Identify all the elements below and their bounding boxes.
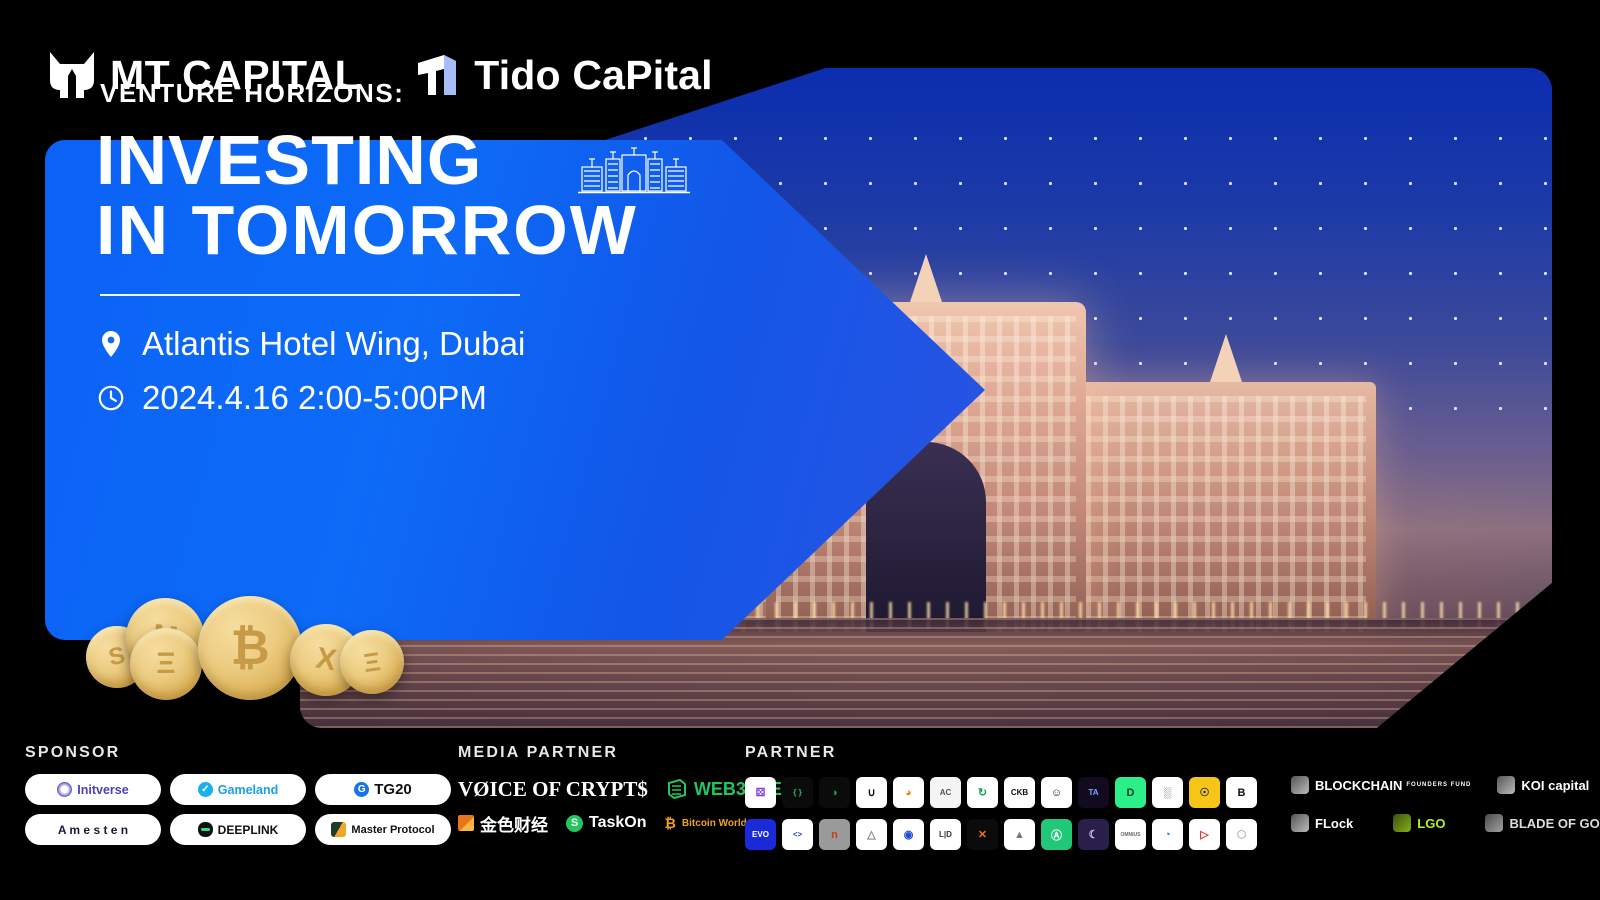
partner-tile-14[interactable]: B bbox=[1226, 777, 1257, 808]
event-location-text: Atlantis Hotel Wing, Dubai bbox=[142, 325, 525, 363]
tido-logo-mark-icon bbox=[414, 51, 460, 99]
partner-tile-9[interactable]: ☺ bbox=[1041, 777, 1072, 808]
lgo-logo[interactable]: LGO bbox=[1393, 814, 1445, 832]
brand-mt-capital: MT CAPITAL bbox=[48, 50, 360, 100]
partner-tile-5[interactable]: ◕ bbox=[893, 777, 924, 808]
media-partner-row-1: VØICE OF CRYPT$ WEB3EVENT bbox=[458, 772, 728, 806]
blockchain-founders-fund-icon bbox=[1291, 776, 1309, 794]
partner-sublabel: FOUNDERS FUND bbox=[1406, 782, 1471, 788]
title-divider bbox=[100, 294, 520, 296]
taskon-icon: S bbox=[566, 815, 583, 832]
deeplink-icon bbox=[198, 822, 213, 837]
bitcoin-world-icon: ₿ bbox=[665, 815, 676, 831]
footer: SPONSOR Initverse ✓ Gameland G TG20 A m … bbox=[0, 740, 1600, 900]
media-label: TaskOn bbox=[589, 814, 647, 832]
sponsor-pill-grid: Initverse ✓ Gameland G TG20 A m e s t e … bbox=[25, 774, 445, 845]
sponsor-label: DEEPLINK bbox=[218, 823, 279, 837]
sponsor-label: Initverse bbox=[77, 783, 128, 797]
lgo-icon bbox=[1393, 814, 1411, 832]
sponsor-pill-master-protocol[interactable]: Master Protocol bbox=[315, 814, 451, 845]
tido-capital-wordmark: Tido CaPital bbox=[474, 55, 713, 96]
jinse-finance-icon bbox=[458, 815, 474, 831]
sponsor-pill-deeplink[interactable]: DEEPLINK bbox=[170, 814, 306, 845]
sponsor-heading: SPONSOR bbox=[25, 744, 445, 762]
partner-tile-wrap: ⚄{ }◑∪◕AC↻CKB☺TAD░☉B EVO<>n△◉L|D✕▲Ⓐ☾OMNI… bbox=[745, 766, 1257, 850]
partner-label: LGO bbox=[1417, 816, 1445, 831]
partner-tile-13[interactable]: ☉ bbox=[1189, 777, 1220, 808]
sponsor-label: A m e s t e n bbox=[58, 823, 128, 837]
master-protocol-icon bbox=[331, 822, 346, 837]
partner-label: BLOCKCHAIN bbox=[1315, 778, 1402, 793]
hero-title: INVESTING IN TOMORROW bbox=[96, 125, 638, 265]
atlantis-hotel-outline-icon bbox=[578, 145, 690, 197]
blade-of-god-icon bbox=[1485, 814, 1503, 832]
partner-tile-24[interactable]: ☾ bbox=[1078, 819, 1109, 850]
partner-tile-18[interactable]: △ bbox=[856, 819, 887, 850]
partner-label: BLADE OF GOD bbox=[1509, 816, 1600, 831]
partner-tile-12[interactable]: ░ bbox=[1152, 777, 1183, 808]
crypto-coin-cluster: S M Ξ ₿ X Ξ bbox=[78, 588, 438, 698]
partner-tile-4[interactable]: ∪ bbox=[856, 777, 887, 808]
location-pin-icon bbox=[98, 329, 124, 359]
sponsor-label: Gameland bbox=[218, 783, 278, 797]
partner-tile-23[interactable]: Ⓐ bbox=[1041, 819, 1072, 850]
partner-tile-8[interactable]: CKB bbox=[1004, 777, 1035, 808]
coin-ethereum: Ξ bbox=[130, 628, 202, 700]
partner-tile-7[interactable]: ↻ bbox=[967, 777, 998, 808]
partner-tile-6[interactable]: AC bbox=[930, 777, 961, 808]
media-partner-list: VØICE OF CRYPT$ WEB3EVENT 金色财经 S TaskOn bbox=[458, 772, 728, 840]
partner-tile-row-2: EVO<>n△◉L|D✕▲Ⓐ☾OMNIUS◔▷⬡ bbox=[745, 819, 1257, 850]
media-logo-voice-of-crypto[interactable]: VØICE OF CRYPT$ bbox=[458, 779, 648, 800]
partner-tile-20[interactable]: L|D bbox=[930, 819, 961, 850]
partner-tile-row-1: ⚄{ }◑∪◕AC↻CKB☺TAD░☉B bbox=[745, 777, 1257, 808]
media-partner-row-2: 金色财经 S TaskOn ₿ Bitcoin World bbox=[458, 806, 728, 840]
hero-title-line2: IN TOMORROW bbox=[96, 195, 638, 265]
web3event-icon bbox=[666, 778, 688, 800]
partner-heading: PARTNER bbox=[745, 744, 1585, 762]
partner-tile-27[interactable]: ▷ bbox=[1189, 819, 1220, 850]
koi-capital-logo[interactable]: KOI capital bbox=[1497, 776, 1589, 794]
logo-bar: MT CAPITAL Tido CaPital bbox=[48, 50, 713, 100]
sponsor-label: Master Protocol bbox=[351, 824, 434, 836]
gameland-check-icon: ✓ bbox=[198, 782, 213, 797]
partner-named-row-2: FLockLGOBLADE OF GOD bbox=[1291, 806, 1600, 840]
media-label: Bitcoin World bbox=[682, 818, 747, 829]
sponsor-pill-initverse[interactable]: Initverse bbox=[25, 774, 161, 805]
partner-tile-21[interactable]: ✕ bbox=[967, 819, 998, 850]
blade-of-god-logo[interactable]: BLADE OF GOD bbox=[1485, 814, 1600, 832]
mt-logo-mark-icon bbox=[48, 50, 96, 100]
partner-label: FLock bbox=[1315, 816, 1353, 831]
partner-tile-3[interactable]: ◑ bbox=[819, 777, 850, 808]
sponsor-pill-tg20[interactable]: G TG20 bbox=[315, 774, 451, 805]
partner-tile-26[interactable]: ◔ bbox=[1152, 819, 1183, 850]
event-banner: MT CAPITAL Tido CaPital VENTURE HORIZON bbox=[0, 0, 1600, 900]
flock-icon bbox=[1291, 814, 1309, 832]
media-label: VØICE OF CRYPT$ bbox=[458, 779, 648, 800]
partner-named-row-1: BLOCKCHAINFOUNDERS FUNDKOI capitalBISON … bbox=[1291, 768, 1600, 802]
partner-label: KOI capital bbox=[1521, 778, 1589, 793]
media-partner-heading: MEDIA PARTNER bbox=[458, 744, 728, 762]
media-logo-bitcoin-world[interactable]: ₿ Bitcoin World bbox=[665, 815, 747, 831]
partner-section: PARTNER ⚄{ }◑∪◕AC↻CKB☺TAD░☉B EVO<>n△◉L|D… bbox=[745, 744, 1585, 762]
mt-capital-wordmark: MT CAPITAL bbox=[110, 55, 360, 96]
event-datetime-row: 2024.4.16 2:00-5:00PM bbox=[98, 379, 525, 417]
sponsor-pill-amesten[interactable]: A m e s t e n bbox=[25, 814, 161, 845]
partner-tile-11[interactable]: D bbox=[1115, 777, 1146, 808]
partner-tile-28[interactable]: ⬡ bbox=[1226, 819, 1257, 850]
sponsor-section: SPONSOR Initverse ✓ Gameland G TG20 A m … bbox=[25, 744, 445, 845]
media-logo-taskon[interactable]: S TaskOn bbox=[566, 814, 647, 832]
clock-icon bbox=[98, 383, 124, 413]
tg20-icon: G bbox=[354, 782, 369, 797]
media-label: 金色财经 bbox=[480, 811, 548, 836]
media-logo-jinse-finance[interactable]: 金色财经 bbox=[458, 811, 548, 836]
partner-tile-19[interactable]: ◉ bbox=[893, 819, 924, 850]
koi-capital-icon bbox=[1497, 776, 1515, 794]
partner-tile-10[interactable]: TA bbox=[1078, 777, 1109, 808]
brand-tido-capital: Tido CaPital bbox=[414, 51, 713, 99]
partner-tile-25[interactable]: OMNIUS bbox=[1115, 819, 1146, 850]
partner-tile-2[interactable]: { } bbox=[782, 777, 813, 808]
coin-bitcoin: ₿ bbox=[198, 596, 302, 700]
partner-tile-17[interactable]: n bbox=[819, 819, 850, 850]
flock-logo[interactable]: FLock bbox=[1291, 814, 1353, 832]
partner-tile-22[interactable]: ▲ bbox=[1004, 819, 1035, 850]
event-datetime-text: 2024.4.16 2:00-5:00PM bbox=[142, 379, 487, 417]
hotel-right-wing bbox=[1076, 382, 1376, 632]
sponsor-label: TG20 bbox=[374, 781, 412, 798]
partner-tile-15[interactable]: EVO bbox=[745, 819, 776, 850]
partner-tile-1[interactable]: ⚄ bbox=[745, 777, 776, 808]
event-meta: Atlantis Hotel Wing, Dubai 2024.4.16 2:0… bbox=[98, 325, 525, 433]
hero-title-line1: INVESTING bbox=[96, 125, 638, 195]
media-partner-section: MEDIA PARTNER VØICE OF CRYPT$ WEB3EVENT … bbox=[458, 744, 728, 840]
blockchain-founders-fund-logo[interactable]: BLOCKCHAINFOUNDERS FUND bbox=[1291, 776, 1471, 794]
partner-tile-16[interactable]: <> bbox=[782, 819, 813, 850]
initverse-icon bbox=[57, 782, 72, 797]
sponsor-pill-gameland[interactable]: ✓ Gameland bbox=[170, 774, 306, 805]
event-location-row: Atlantis Hotel Wing, Dubai bbox=[98, 325, 525, 363]
